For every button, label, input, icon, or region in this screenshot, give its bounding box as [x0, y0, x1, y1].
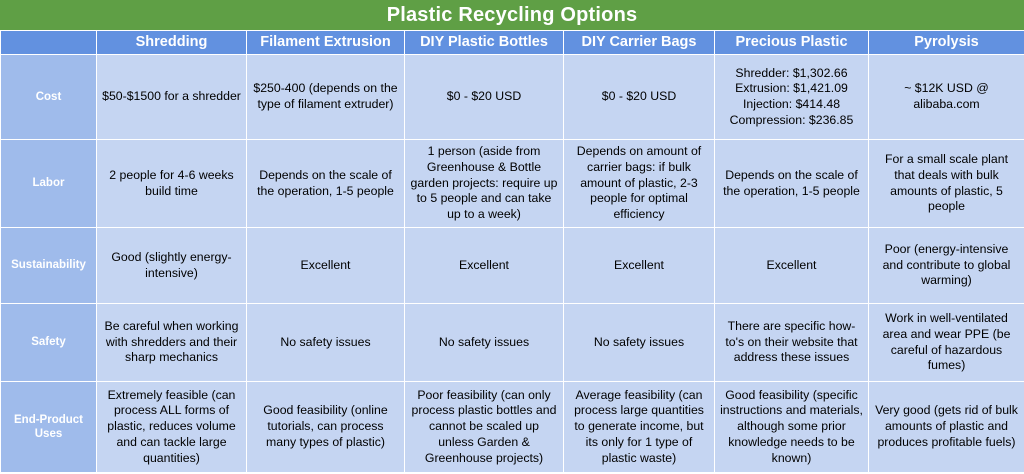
table-cell[interactable]: There are specific how-to's on their web… — [715, 304, 869, 382]
table-body: Cost $50-$1500 for a shredder $250-400 (… — [1, 55, 1024, 473]
row-header-safety[interactable]: Safety — [1, 304, 97, 382]
table-cell[interactable]: Depends on the scale of the operation, 1… — [247, 140, 405, 228]
column-header-filament-extrusion[interactable]: Filament Extrusion — [247, 31, 405, 55]
table-row: Safety Be careful when working with shre… — [1, 304, 1024, 382]
column-header-diy-carrier-bags[interactable]: DIY Carrier Bags — [564, 31, 715, 55]
table-corner-cell — [1, 31, 97, 55]
table-cell[interactable]: Excellent — [405, 228, 564, 304]
table-cell[interactable]: Good feasibility (specific instructions … — [715, 382, 869, 473]
table-cell[interactable]: ~ $12K USD @ alibaba.com — [869, 55, 1024, 140]
table-cell[interactable]: No safety issues — [247, 304, 405, 382]
page-title: Plastic Recycling Options — [387, 5, 638, 25]
column-header-precious-plastic[interactable]: Precious Plastic — [715, 31, 869, 55]
table-cell[interactable]: Excellent — [247, 228, 405, 304]
table-row: Labor 2 people for 4-6 weeks build time … — [1, 140, 1024, 228]
column-header-pyrolysis[interactable]: Pyrolysis — [869, 31, 1024, 55]
table-cell[interactable]: Be careful when working with shredders a… — [97, 304, 247, 382]
table-cell[interactable]: Excellent — [715, 228, 869, 304]
table-cell[interactable]: Average feasibility (can process large q… — [564, 382, 715, 473]
table-cell[interactable]: Depends on amount of carrier bags: if bu… — [564, 140, 715, 228]
table-cell[interactable]: $50-$1500 for a shredder — [97, 55, 247, 140]
page-title-banner: Plastic Recycling Options — [0, 0, 1024, 30]
table-cell[interactable]: 1 person (aside from Greenhouse & Bottle… — [405, 140, 564, 228]
table-cell[interactable]: $0 - $20 USD — [564, 55, 715, 140]
table-cell[interactable]: $250-400 (depends on the type of filamen… — [247, 55, 405, 140]
table-cell[interactable]: For a small scale plant that deals with … — [869, 140, 1024, 228]
comparison-table: Shredding Filament Extrusion DIY Plastic… — [0, 30, 1024, 473]
table-header: Shredding Filament Extrusion DIY Plastic… — [1, 31, 1024, 55]
row-header-sustainability[interactable]: Sustainability — [1, 228, 97, 304]
column-header-shredding[interactable]: Shredding — [97, 31, 247, 55]
table-header-row: Shredding Filament Extrusion DIY Plastic… — [1, 31, 1024, 55]
column-header-diy-plastic-bottles[interactable]: DIY Plastic Bottles — [405, 31, 564, 55]
table-row: End-Product Uses Extremely feasible (can… — [1, 382, 1024, 473]
table-cell[interactable]: Very good (gets rid of bulk amounts of p… — [869, 382, 1024, 473]
row-header-cost[interactable]: Cost — [1, 55, 97, 140]
table-row: Sustainability Good (slightly energy-int… — [1, 228, 1024, 304]
table-cell[interactable]: Poor (energy-intensive and contribute to… — [869, 228, 1024, 304]
row-header-labor[interactable]: Labor — [1, 140, 97, 228]
table-cell[interactable]: Extremely feasible (can process ALL form… — [97, 382, 247, 473]
table-cell[interactable]: Poor feasibility (can only process plast… — [405, 382, 564, 473]
table-cell[interactable]: Work in well-ventilated area and wear PP… — [869, 304, 1024, 382]
table-cell[interactable]: Depends on the scale of the operation, 1… — [715, 140, 869, 228]
table-cell[interactable]: 2 people for 4-6 weeks build time — [97, 140, 247, 228]
table-cell[interactable]: No safety issues — [564, 304, 715, 382]
table-cell[interactable]: $0 - $20 USD — [405, 55, 564, 140]
table-cell[interactable]: Excellent — [564, 228, 715, 304]
table-cell[interactable]: Shredder: $1,302.66 Extrusion: $1,421.09… — [715, 55, 869, 140]
spreadsheet-table-view: Plastic Recycling Options Shredding Fila… — [0, 0, 1024, 474]
table-cell[interactable]: No safety issues — [405, 304, 564, 382]
table-cell[interactable]: Good (slightly energy-intensive) — [97, 228, 247, 304]
table-row: Cost $50-$1500 for a shredder $250-400 (… — [1, 55, 1024, 140]
table-cell[interactable]: Good feasibility (online tutorials, can … — [247, 382, 405, 473]
row-header-end-product-uses[interactable]: End-Product Uses — [1, 382, 97, 473]
